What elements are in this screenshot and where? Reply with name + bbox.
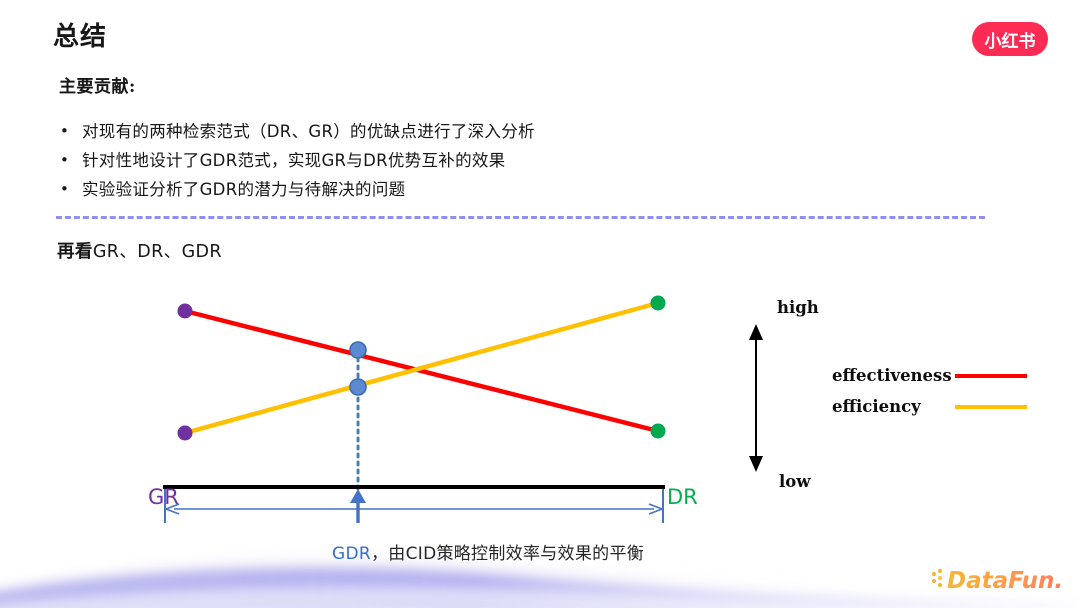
axis-label-gr: GR bbox=[148, 485, 179, 509]
datafun-logo-text: DataFun. bbox=[947, 568, 1062, 594]
marker-gdr-efficiency bbox=[350, 379, 366, 395]
chart-caption: GDR，由CID策略控制效率与效果的平衡 bbox=[332, 539, 644, 564]
legend-label-effectiveness: effectiveness bbox=[832, 366, 952, 385]
marker-gr-effectiveness bbox=[178, 304, 193, 319]
legend-label-efficiency: efficiency bbox=[832, 397, 921, 416]
datafun-logo: DataFun. bbox=[930, 566, 1062, 594]
axis-span-arrow bbox=[166, 504, 662, 514]
gdr-pointer-arrow bbox=[350, 489, 366, 523]
tradeoff-chart bbox=[0, 0, 1080, 608]
axis-tick-low: low bbox=[779, 472, 810, 491]
slide-canvas: 总结 小红书 主要贡献: • 对现有的两种检索范式（DR、GR）的优缺点进行了深… bbox=[0, 0, 1080, 608]
axis-label-dr: DR bbox=[667, 485, 698, 509]
axis-bracket bbox=[165, 489, 663, 523]
datafun-logo-svg: DataFun. bbox=[930, 565, 1062, 595]
chart-caption-gdr: GDR bbox=[332, 544, 371, 564]
axis-tick-high: high bbox=[777, 298, 819, 317]
marker-dr-effectiveness bbox=[651, 424, 666, 439]
marker-dr-efficiency bbox=[651, 296, 666, 311]
marker-gdr-effectiveness bbox=[350, 342, 366, 358]
chart-caption-text: ，由CID策略控制效率与效果的平衡 bbox=[371, 544, 644, 564]
high-low-arrow bbox=[749, 324, 763, 472]
marker-gr-efficiency bbox=[178, 426, 193, 441]
